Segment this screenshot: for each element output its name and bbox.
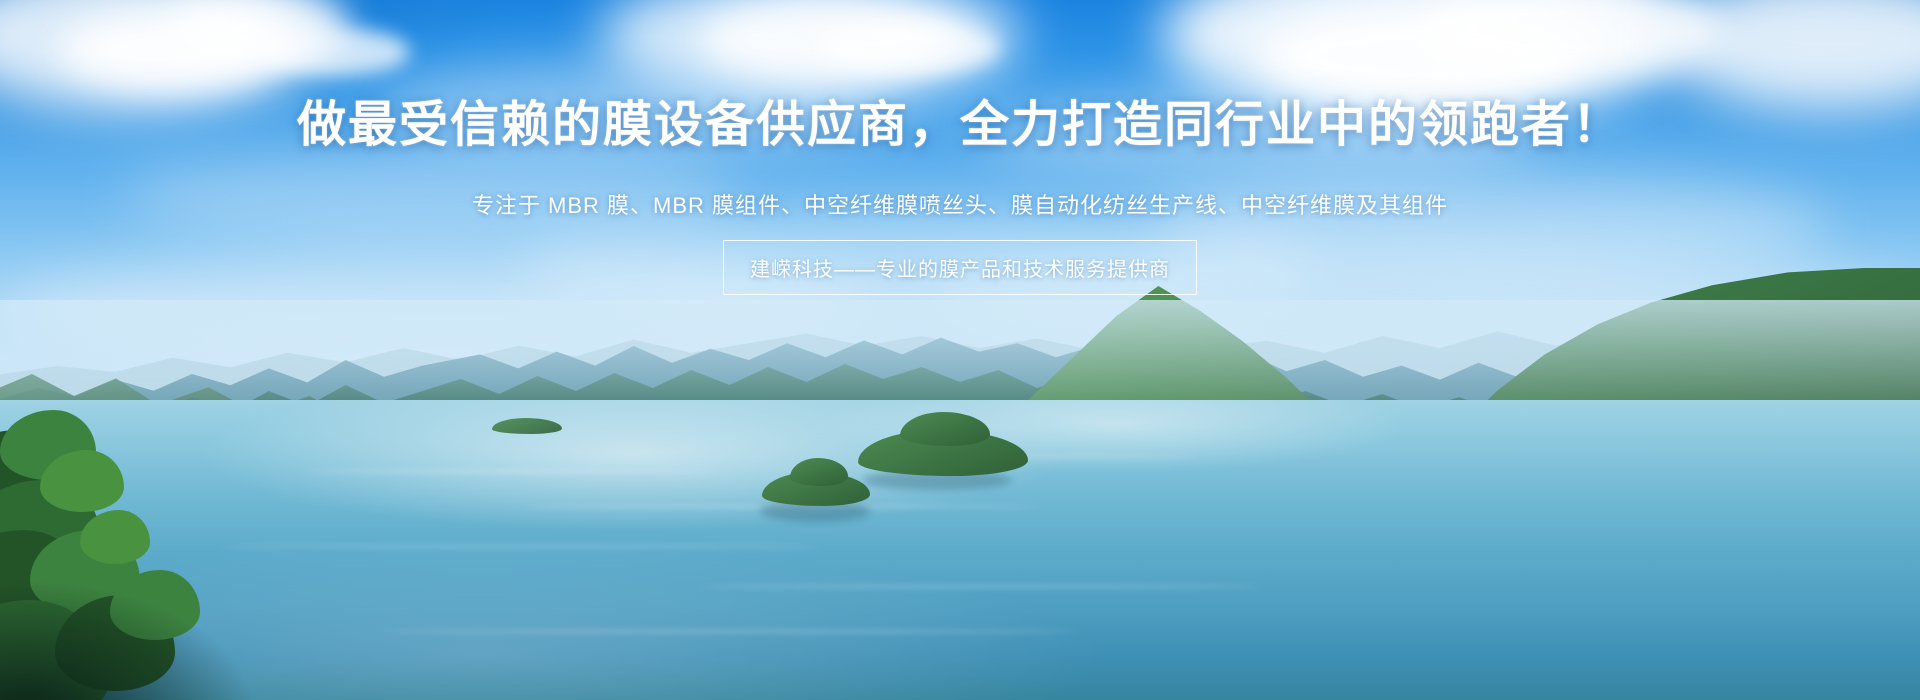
hero-banner: 做最受信赖的膜设备供应商，全力打造同行业中的领跑者！ 专注于 MBR 膜、MBR… <box>0 0 1920 700</box>
banner-tagline: 建嵘科技——专业的膜产品和技术服务提供商 <box>723 240 1197 295</box>
banner-headline: 做最受信赖的膜设备供应商，全力打造同行业中的领跑者！ <box>0 98 1920 153</box>
text-overlay: 做最受信赖的膜设备供应商，全力打造同行业中的领跑者！ 专注于 MBR 膜、MBR… <box>0 0 1920 700</box>
banner-tagline-wrapper: 建嵘科技——专业的膜产品和技术服务提供商 <box>0 240 1920 295</box>
banner-subtitle: 专注于 MBR 膜、MBR 膜组件、中空纤维膜喷丝头、膜自动化纺丝生产线、中空纤… <box>0 188 1920 220</box>
